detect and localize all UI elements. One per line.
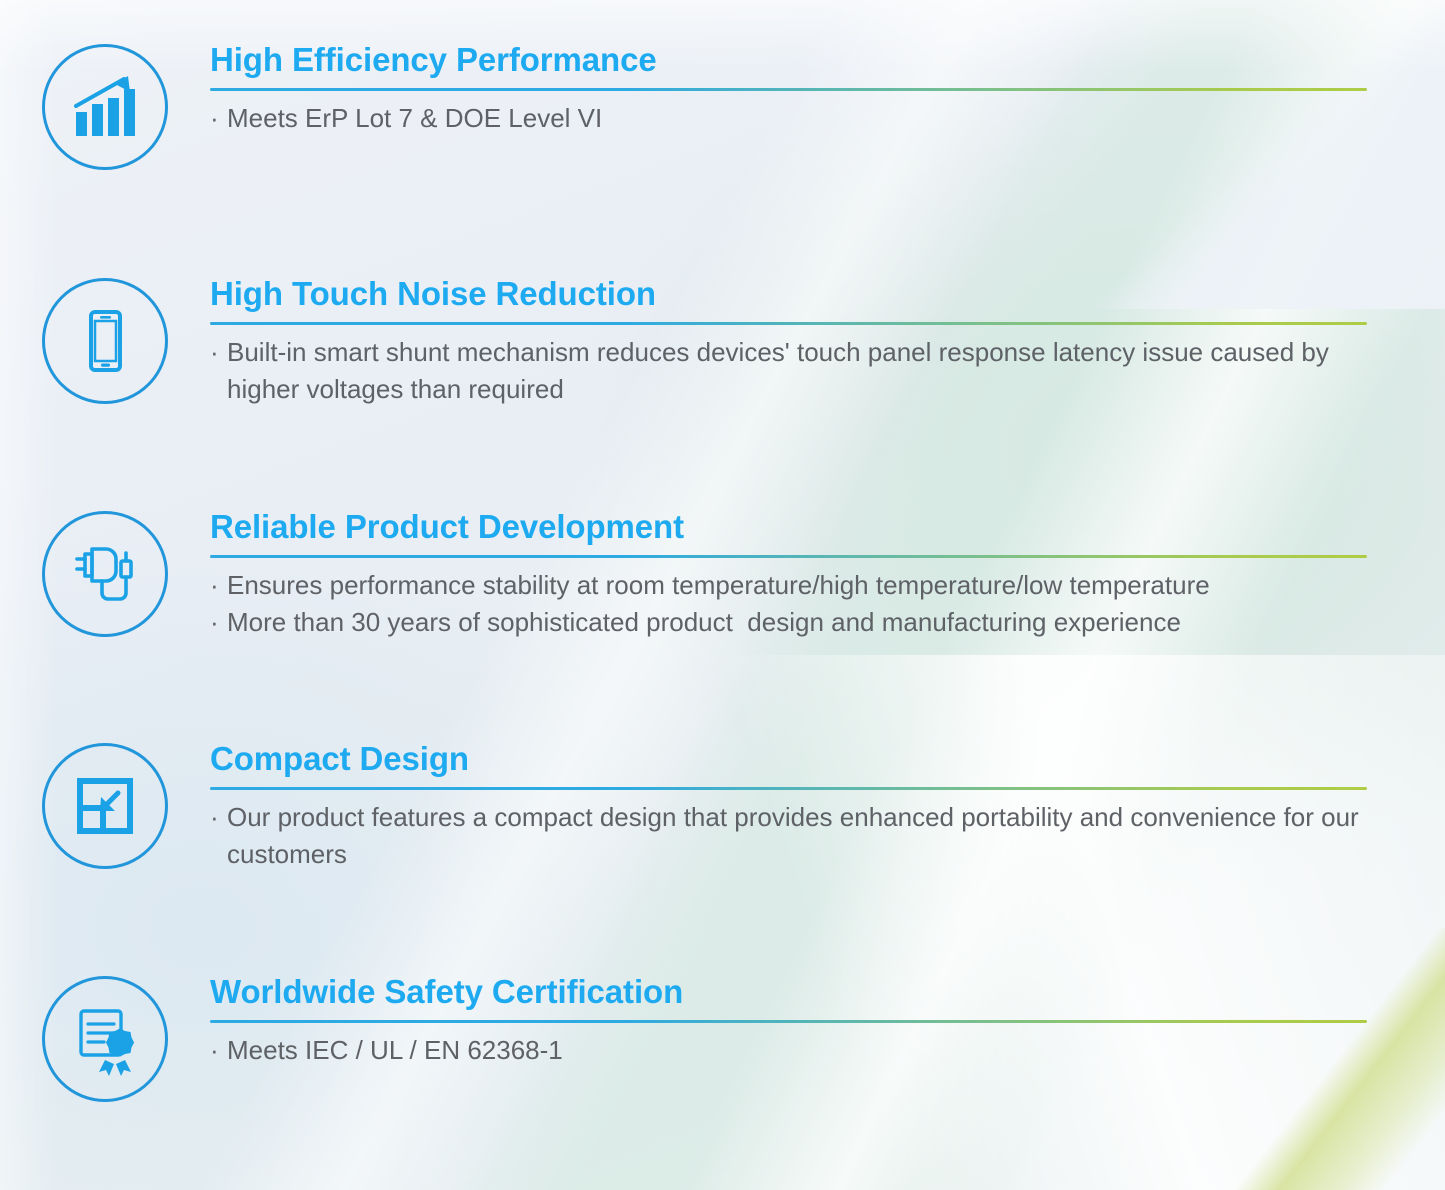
feature-item-compact-design: Compact Design · Our product features a … <box>0 741 1445 873</box>
bullet-text: Built-in smart shunt mechanism reduces d… <box>227 334 1367 408</box>
feature-divider <box>210 88 1367 91</box>
feature-item-reliable-product-development: Reliable Product Development · Ensures p… <box>0 509 1445 641</box>
feature-text-cell: High Efficiency Performance · Meets ErP … <box>210 42 1445 137</box>
feature-item-high-touch-noise-reduction: High Touch Noise Reduction · Built-in sm… <box>0 276 1445 408</box>
feature-divider <box>210 555 1367 558</box>
smartphone-icon <box>42 278 168 404</box>
feature-bullets: · Our product features a compact design … <box>210 799 1367 873</box>
bullet-marker: · <box>210 334 227 371</box>
bullet-marker: · <box>210 100 227 137</box>
feature-title: High Touch Noise Reduction <box>210 276 1367 313</box>
bullet-text: Meets ErP Lot 7 & DOE Level VI <box>227 100 1367 137</box>
bullet-text: Our product features a compact design th… <box>227 799 1367 873</box>
bar-chart-growth-icon <box>42 44 168 170</box>
feature-bullet: · Ensures performance stability at room … <box>210 567 1367 604</box>
feature-icon-cell <box>0 974 210 1102</box>
feature-title: Worldwide Safety Certification <box>210 974 1367 1011</box>
feature-title: High Efficiency Performance <box>210 42 1367 79</box>
bullet-marker: · <box>210 604 227 641</box>
feature-icon-cell <box>0 42 210 170</box>
feature-divider <box>210 1020 1367 1023</box>
bullet-text: Ensures performance stability at room te… <box>227 567 1367 604</box>
bullet-marker: · <box>210 1032 227 1069</box>
feature-bullet: · Built-in smart shunt mechanism reduces… <box>210 334 1367 408</box>
feature-text-cell: Worldwide Safety Certification · Meets I… <box>210 974 1445 1069</box>
certificate-award-icon <box>42 976 168 1102</box>
bullet-text: Meets IEC / UL / EN 62368-1 <box>227 1032 1367 1069</box>
feature-item-worldwide-safety-certification: Worldwide Safety Certification · Meets I… <box>0 974 1445 1102</box>
feature-bullet: · Meets ErP Lot 7 & DOE Level VI <box>210 100 1367 137</box>
feature-bullet: · Meets IEC / UL / EN 62368-1 <box>210 1032 1367 1069</box>
feature-icon-cell <box>0 509 210 637</box>
bullet-marker: · <box>210 567 227 604</box>
feature-bullet: · More than 30 years of sophisticated pr… <box>210 604 1367 641</box>
feature-bullets: · Meets ErP Lot 7 & DOE Level VI <box>210 100 1367 137</box>
feature-icon-cell <box>0 276 210 404</box>
compact-resize-icon <box>42 743 168 869</box>
feature-title: Reliable Product Development <box>210 509 1367 546</box>
feature-item-high-efficiency-performance: High Efficiency Performance · Meets ErP … <box>0 42 1445 170</box>
bullet-text: More than 30 years of sophisticated prod… <box>227 604 1367 641</box>
feature-icon-cell <box>0 741 210 869</box>
power-adapter-icon <box>42 511 168 637</box>
feature-bullets: · Ensures performance stability at room … <box>210 567 1367 641</box>
feature-divider <box>210 787 1367 790</box>
background-bottom-sweep <box>0 655 1445 1190</box>
feature-bullets: · Meets IEC / UL / EN 62368-1 <box>210 1032 1367 1069</box>
feature-divider <box>210 322 1367 325</box>
feature-title: Compact Design <box>210 741 1367 778</box>
feature-highlights-page: High Efficiency Performance · Meets ErP … <box>0 0 1445 1190</box>
feature-bullets: · Built-in smart shunt mechanism reduces… <box>210 334 1367 408</box>
feature-text-cell: Compact Design · Our product features a … <box>210 741 1445 873</box>
feature-bullet: · Our product features a compact design … <box>210 799 1367 873</box>
bullet-marker: · <box>210 799 227 836</box>
feature-text-cell: High Touch Noise Reduction · Built-in sm… <box>210 276 1445 408</box>
feature-text-cell: Reliable Product Development · Ensures p… <box>210 509 1445 641</box>
